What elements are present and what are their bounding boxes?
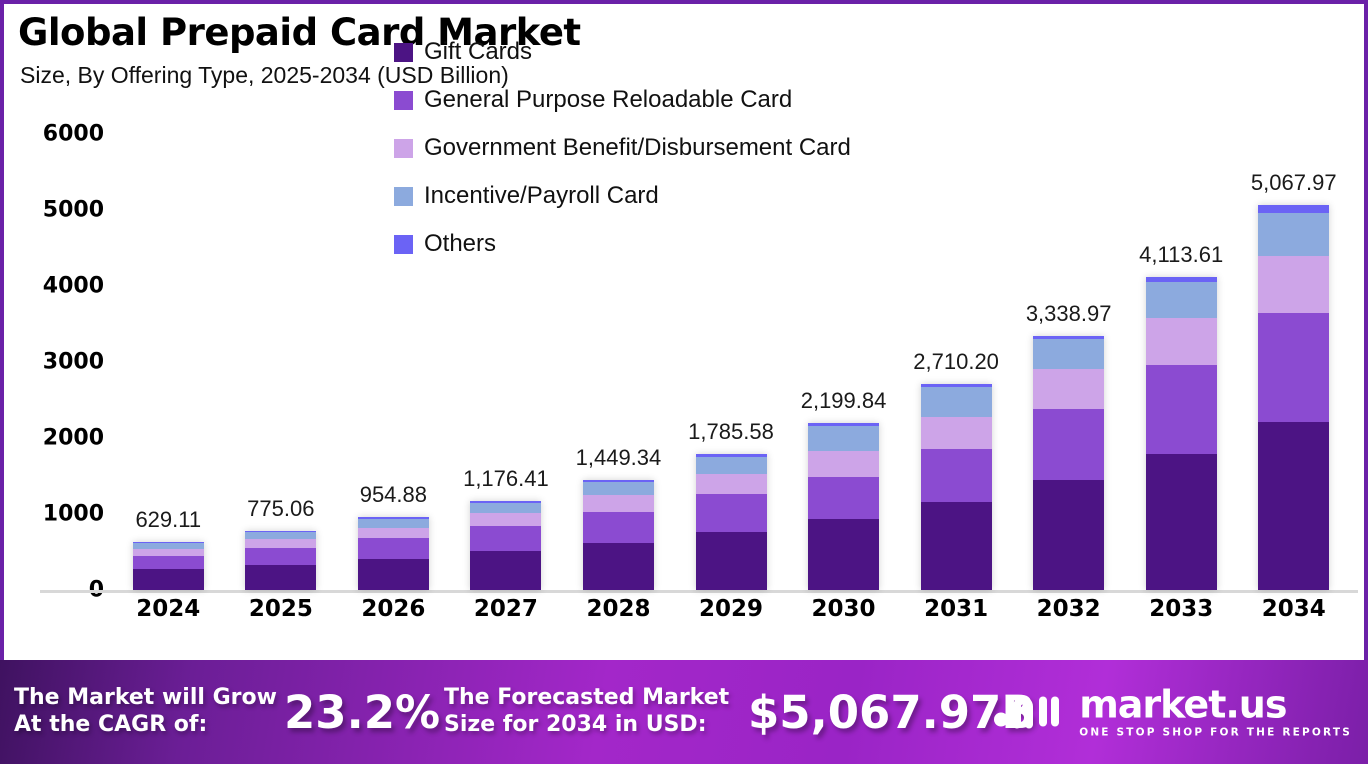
bar-value-label: 775.06	[247, 496, 314, 522]
y-axis-tick: 2000	[43, 426, 104, 451]
bar-segment[interactable]	[696, 474, 767, 494]
stacked-bar[interactable]	[696, 454, 767, 590]
x-axis-tick: 2027	[450, 596, 563, 630]
bar-column[interactable]: 1,785.58	[675, 134, 788, 590]
stacked-bar[interactable]	[921, 384, 992, 590]
bar-segment[interactable]	[1033, 369, 1104, 409]
y-axis-tick: 5000	[43, 198, 104, 223]
y-axis: 6000500040003000200010000	[12, 134, 104, 590]
bar-segment[interactable]	[1146, 365, 1217, 454]
x-axis-tick: 2030	[787, 596, 900, 630]
bar-value-label: 954.88	[360, 482, 427, 508]
stacked-bar[interactable]	[583, 480, 654, 590]
bar-value-label: 4,113.61	[1139, 242, 1223, 268]
bar-segment[interactable]	[696, 532, 767, 590]
x-axis-baseline	[40, 590, 1358, 593]
bar-segment[interactable]	[470, 503, 541, 514]
bar-segment[interactable]	[470, 526, 541, 551]
y-axis-tick: 6000	[43, 122, 104, 147]
bar-value-label: 1,449.34	[576, 445, 662, 471]
bar-column[interactable]: 629.11	[112, 134, 225, 590]
bar-segment[interactable]	[1146, 454, 1217, 590]
bar-segment[interactable]	[808, 477, 879, 519]
legend-item[interactable]: General Purpose Reloadable Card	[394, 76, 851, 124]
bar-value-label: 1,176.41	[463, 466, 549, 492]
bar-column[interactable]: 1,449.34	[562, 134, 675, 590]
bar-segment[interactable]	[808, 451, 879, 478]
x-axis-tick: 2029	[675, 596, 788, 630]
bar-segment[interactable]	[583, 543, 654, 590]
bar-segment[interactable]	[245, 565, 316, 590]
x-axis-tick: 2025	[225, 596, 338, 630]
bar-segment[interactable]	[1033, 339, 1104, 369]
market-us-logo-icon	[993, 688, 1067, 736]
x-axis-tick: 2033	[1125, 596, 1238, 630]
x-axis-tick: 2028	[562, 596, 675, 630]
bar-segment[interactable]	[808, 426, 879, 451]
bar-segment[interactable]	[1258, 313, 1329, 422]
stacked-bar[interactable]	[133, 542, 204, 590]
stacked-bar[interactable]	[470, 501, 541, 590]
bar-value-label: 2,199.84	[801, 388, 887, 414]
legend-item[interactable]: Gift Cards	[394, 28, 851, 76]
bar-segment[interactable]	[358, 519, 429, 528]
plot-area: 6000500040003000200010000 629.11775.0695…	[4, 122, 1364, 660]
bar-segment[interactable]	[583, 495, 654, 511]
y-axis-tick: 1000	[43, 502, 104, 527]
bar-column[interactable]: 5,067.97	[1237, 134, 1350, 590]
bar-value-label: 2,710.20	[913, 349, 999, 375]
bar-column[interactable]: 2,710.20	[900, 134, 1013, 590]
y-axis-tick: 4000	[43, 274, 104, 299]
forecast-label-line2: Size for 2034 in USD:	[444, 712, 744, 739]
legend-swatch-icon	[394, 43, 413, 62]
bar-segment[interactable]	[1033, 480, 1104, 590]
bar-segment[interactable]	[245, 548, 316, 564]
bar-value-label: 1,785.58	[688, 419, 774, 445]
stacked-bar[interactable]	[358, 517, 429, 590]
bar-column[interactable]: 954.88	[337, 134, 450, 590]
bar-segment[interactable]	[358, 528, 429, 539]
bar-segment[interactable]	[358, 559, 429, 590]
legend-swatch-icon	[394, 91, 413, 110]
bar-segment[interactable]	[470, 551, 541, 590]
bar-segment[interactable]	[1258, 256, 1329, 313]
y-axis-tick: 3000	[43, 350, 104, 375]
bar-column[interactable]: 3,338.97	[1012, 134, 1125, 590]
x-axis-tick: 2032	[1012, 596, 1125, 630]
bar-value-label: 3,338.97	[1026, 301, 1112, 327]
bar-segment[interactable]	[921, 449, 992, 501]
bar-segment[interactable]	[133, 569, 204, 590]
stacked-bar[interactable]	[1146, 277, 1217, 590]
x-axis-tick: 2024	[112, 596, 225, 630]
bar-column[interactable]: 1,176.41	[450, 134, 563, 590]
bar-segment[interactable]	[1258, 205, 1329, 213]
x-axis: 2024202520262027202820292030203120322033…	[112, 596, 1350, 630]
forecast-label-line1: The Forecasted Market	[444, 685, 744, 712]
bar-segment[interactable]	[808, 519, 879, 590]
bar-segment[interactable]	[1258, 422, 1329, 590]
bar-segment[interactable]	[921, 417, 992, 450]
bar-segment[interactable]	[245, 532, 316, 539]
bar-column[interactable]: 2,199.84	[787, 134, 900, 590]
bar-column[interactable]: 4,113.61	[1125, 134, 1238, 590]
legend-item-label: Gift Cards	[424, 38, 532, 66]
bar-segment[interactable]	[583, 512, 654, 543]
cagr-value: 23.2%	[284, 686, 444, 739]
bar-segment[interactable]	[583, 482, 654, 495]
forecast-label: The Forecasted Market Size for 2034 in U…	[444, 685, 744, 739]
x-axis-tick: 2026	[337, 596, 450, 630]
bar-segment[interactable]	[133, 549, 204, 556]
bar-segment[interactable]	[358, 538, 429, 558]
brand-logo: market.us ONE STOP SHOP FOR THE REPORTS	[993, 686, 1352, 739]
bar-segment[interactable]	[133, 556, 204, 569]
bar-segment[interactable]	[245, 539, 316, 548]
chart-card: Global Prepaid Card Market Size, By Offe…	[0, 0, 1368, 660]
bar-value-label: 629.11	[135, 507, 201, 533]
bar-segment[interactable]	[470, 513, 541, 526]
bar-segment[interactable]	[696, 457, 767, 473]
bar-column[interactable]: 775.06	[225, 134, 338, 590]
bar-group: 629.11775.06954.881,176.411,449.341,785.…	[112, 134, 1350, 590]
cagr-label: The Market will Grow At the CAGR of:	[14, 685, 284, 739]
bar-segment[interactable]	[696, 494, 767, 532]
bar-segment[interactable]	[921, 387, 992, 417]
bar-segment[interactable]	[1146, 282, 1217, 318]
infographic-root: Global Prepaid Card Market Size, By Offe…	[0, 0, 1368, 764]
x-axis-tick: 2031	[900, 596, 1013, 630]
cagr-label-line2: At the CAGR of:	[14, 712, 284, 739]
brand-text: market.us ONE STOP SHOP FOR THE REPORTS	[1079, 686, 1352, 739]
cagr-label-line1: The Market will Grow	[14, 685, 284, 712]
stacked-bar[interactable]	[245, 531, 316, 590]
stacked-bar[interactable]	[808, 423, 879, 590]
footer-banner: The Market will Grow At the CAGR of: 23.…	[0, 660, 1368, 764]
brand-name: market.us	[1079, 686, 1352, 724]
stacked-bar[interactable]	[1033, 336, 1104, 590]
bar-segment[interactable]	[1258, 213, 1329, 256]
bar-segment[interactable]	[1033, 409, 1104, 481]
stacked-bar[interactable]	[1258, 205, 1329, 590]
legend-item-label: General Purpose Reloadable Card	[424, 86, 792, 114]
bar-segment[interactable]	[1146, 318, 1217, 365]
brand-tagline: ONE STOP SHOP FOR THE REPORTS	[1079, 727, 1352, 739]
bar-value-label: 5,067.97	[1251, 170, 1337, 196]
x-axis-tick: 2034	[1237, 596, 1350, 630]
bar-segment[interactable]	[921, 502, 992, 590]
